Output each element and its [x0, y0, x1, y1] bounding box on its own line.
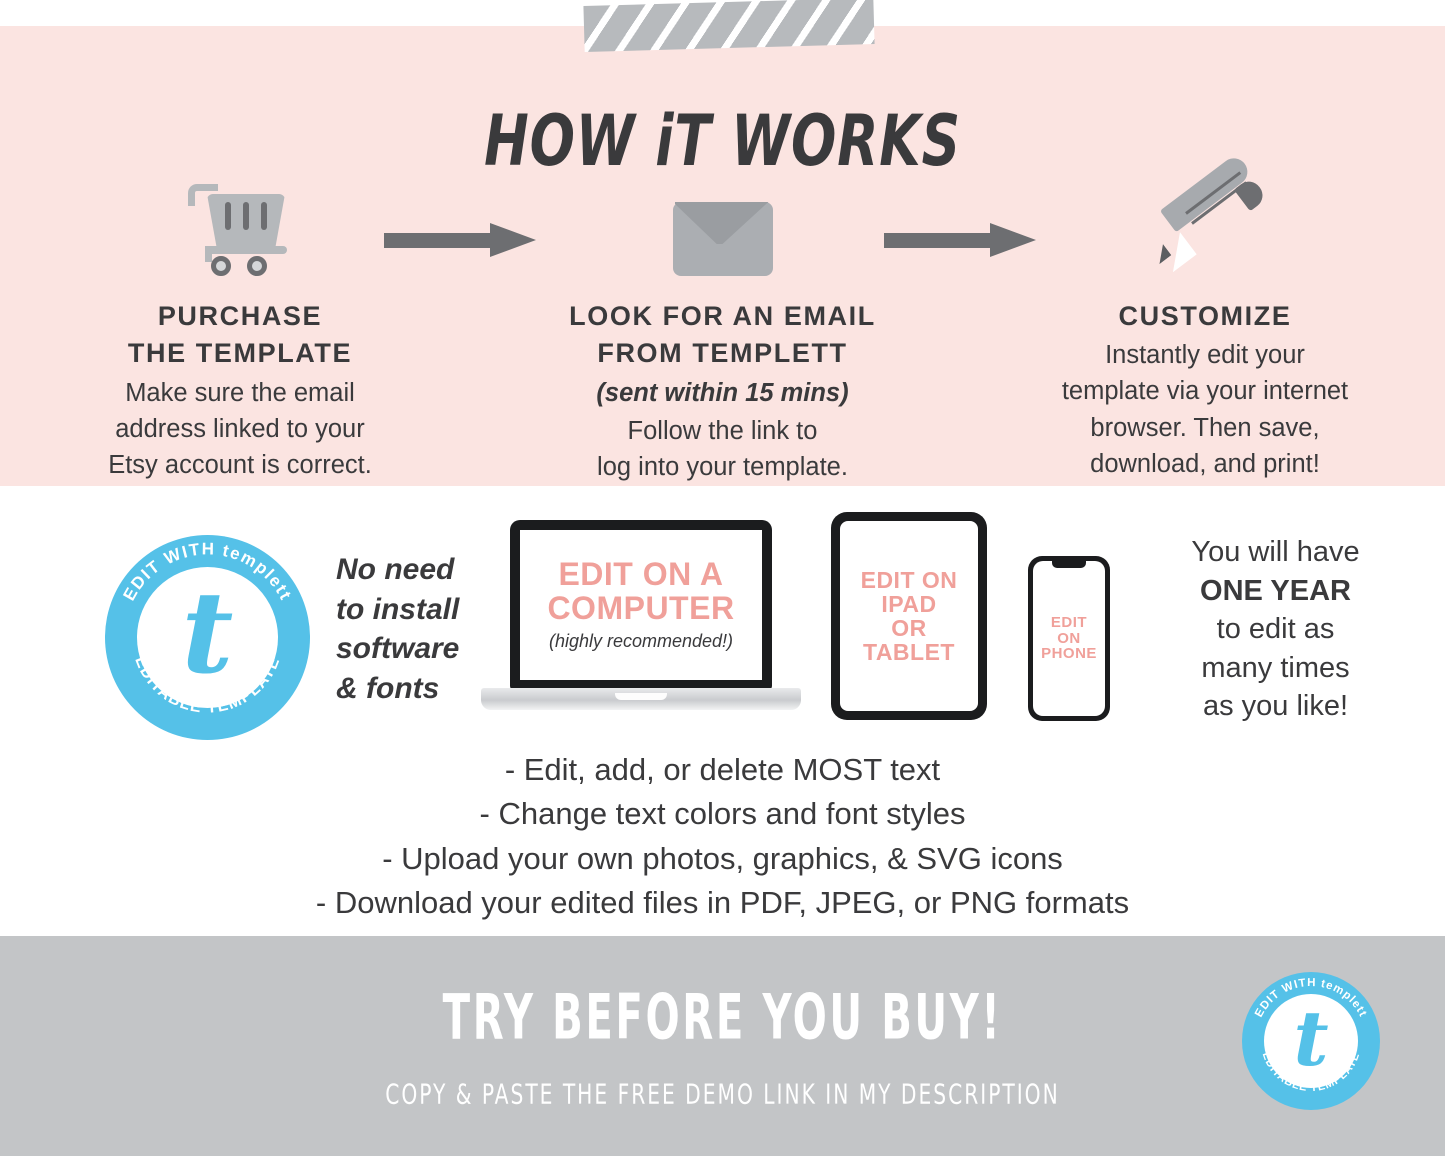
laptop-lid: EDIT ON A COMPUTER (highly recommended!) [510, 520, 772, 690]
phone-screen: EDIT ON PHONE [1033, 561, 1105, 716]
arrow-shaft [884, 233, 996, 248]
badge-center-letter: t [105, 535, 310, 740]
step-icon-wrap [1005, 166, 1405, 276]
list-item: - Edit, add, or delete MOST text [0, 748, 1445, 792]
one-year-text: You will have ONE YEAR to edit as many t… [1118, 533, 1433, 726]
steps-row: PURCHASE THE TEMPLATE Make sure the emai… [0, 166, 1445, 485]
pencil-point [1151, 244, 1171, 264]
templett-badge-footer: EDIT WITH templett EDITABLE TEMPLATE t [1242, 972, 1380, 1110]
pencil-icon [1146, 180, 1264, 276]
arrow-shaft [384, 233, 496, 248]
step-title: CUSTOMIZE [1005, 298, 1405, 335]
footer-subtitle: COPY & PASTE THE FREE DEMO LINK IN MY DE… [72, 1078, 1373, 1110]
step-body: Make sure the email address linked to yo… [40, 375, 440, 484]
step-body: Instantly edit your template via your in… [1005, 337, 1405, 482]
step-look-for-email: LOOK FOR AN EMAIL FROM TEMPLETT (sent wi… [523, 166, 923, 485]
one-year-line1: You will have [1118, 533, 1433, 572]
laptop-base [481, 688, 801, 710]
phone-frame: EDIT ON PHONE [1028, 556, 1110, 721]
tablet-screen-title: EDIT ON IPAD OR TABLET [861, 568, 958, 665]
laptop-screen-title: EDIT ON A COMPUTER [547, 558, 734, 625]
no-need-to-install-text: No need to install software & fonts [336, 550, 496, 708]
laptop-screen: EDIT ON A COMPUTER (highly recommended!) [520, 530, 762, 680]
arrow-right-icon [884, 223, 1036, 257]
cart-rib [243, 202, 249, 230]
step-icon-wrap [40, 166, 440, 276]
cart-rib [225, 202, 231, 230]
step-note: (sent within 15 mins) [523, 375, 923, 411]
footer-title: TRY BEFORE YOU BUY! [101, 982, 1344, 1054]
step-title: PURCHASE THE TEMPLATE [40, 298, 440, 373]
cart-leg [205, 246, 212, 262]
one-year-line5: as you like! [1118, 687, 1433, 726]
shopping-cart-icon [185, 176, 295, 276]
cart-rib [261, 202, 267, 230]
tablet-device: EDIT ON IPAD OR TABLET [831, 512, 987, 720]
one-year-line3: to edit as [1118, 610, 1433, 649]
list-item: - Upload your own photos, graphics, & SV… [0, 837, 1445, 881]
cart-wheel [247, 256, 267, 276]
templett-badge: EDIT WITH templett EDITABLE TEMPLATE t [105, 535, 310, 740]
badge-center-letter: t [1242, 972, 1380, 1110]
tablet-frame: EDIT ON IPAD OR TABLET [831, 512, 987, 720]
step-customize: CUSTOMIZE Instantly edit your template v… [1005, 166, 1405, 482]
list-item: - Change text colors and font styles [0, 792, 1445, 836]
list-item: - Download your edited files in PDF, JPE… [0, 881, 1445, 925]
one-year-highlight: ONE YEAR [1200, 575, 1351, 607]
phone-device: EDIT ON PHONE [1028, 556, 1110, 721]
envelope-icon [673, 202, 773, 276]
cart-wheel [211, 256, 231, 276]
cart-bar [205, 246, 287, 254]
infographic-page: HOW iT WORKS P [0, 0, 1445, 1156]
features-list: - Edit, add, or delete MOST text - Chang… [0, 748, 1445, 925]
step-purchase: PURCHASE THE TEMPLATE Make sure the emai… [40, 166, 440, 483]
laptop-screen-subtitle: (highly recommended!) [549, 631, 733, 652]
one-year-line4: many times [1118, 649, 1433, 688]
step-title: LOOK FOR AN EMAIL FROM TEMPLETT [523, 298, 923, 373]
how-it-works-panel: HOW iT WORKS P [0, 26, 1445, 486]
phone-notch [1052, 561, 1086, 568]
arrow-head [490, 223, 536, 257]
tablet-screen: EDIT ON IPAD OR TABLET [840, 521, 978, 711]
arrow-head [990, 223, 1036, 257]
laptop-device: EDIT ON A COMPUTER (highly recommended!) [481, 520, 801, 730]
step-body: Follow the link to log into your templat… [523, 413, 923, 485]
try-before-you-buy-footer: TRY BEFORE YOU BUY! COPY & PASTE THE FRE… [0, 936, 1445, 1156]
phone-screen-title: EDIT ON PHONE [1041, 615, 1097, 662]
envelope-flap [673, 202, 773, 244]
step-icon-wrap [523, 166, 923, 276]
arrow-right-icon [384, 223, 536, 257]
washi-tape-icon [583, 0, 874, 52]
